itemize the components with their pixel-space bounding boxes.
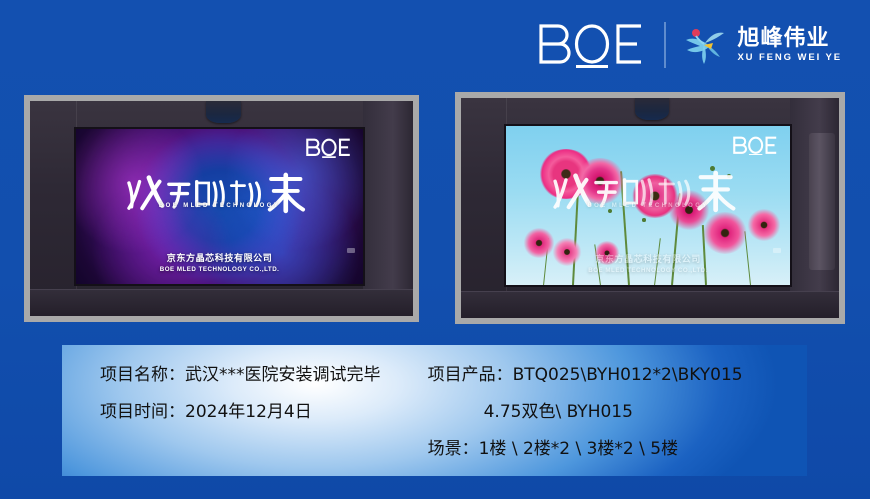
info-column-right: 项目产品：BTQ025\BYH012*2\BKY015 4.75双色\ BYH0… xyxy=(420,367,807,476)
info-panel: 项目名称：武汉***医院安装调试完毕 项目时间：2024年12月4日 项目产品：… xyxy=(62,345,807,476)
screen-corner-badge xyxy=(773,248,781,253)
partner-name-en: XU FENG WEI YE xyxy=(737,53,842,63)
calligraphy-icon xyxy=(93,171,346,218)
led-screen-right: BOE MLED TECHNOLOGY 京东方晶芯科技有限公司 BOE MLED… xyxy=(504,124,791,287)
photo-right: BOE MLED TECHNOLOGY 京东方晶芯科技有限公司 BOE MLED… xyxy=(455,92,845,324)
poster-root: 旭峰伟业 XU FENG WEI YE xyxy=(0,0,870,499)
screen-company-right: 京东方晶芯科技有限公司 BOE MLED TECHNOLOGY CO.,LTD. xyxy=(506,252,789,274)
ceiling-device-icon xyxy=(635,98,669,120)
photo-right-image: BOE MLED TECHNOLOGY 京东方晶芯科技有限公司 BOE MLED… xyxy=(461,98,839,318)
partner-logo: 旭峰伟业 XU FENG WEI YE xyxy=(682,24,842,66)
screen-headline-en-left: BOE MLED TECHNOLOGY xyxy=(93,203,346,209)
project-time-line: 项目时间：2024年12月4日 xyxy=(100,404,420,421)
screen-company-en: BOE MLED TECHNOLOGY CO.,LTD. xyxy=(506,267,789,274)
photo-left-image: BOE MLED TECHNOLOGY 京东方晶芯科技有限公司 BOE MLED… xyxy=(30,101,413,316)
curtain xyxy=(809,133,835,269)
partner-text-block: 旭峰伟业 XU FENG WEI YE xyxy=(737,27,842,63)
partner-name-cn: 旭峰伟业 xyxy=(737,27,842,49)
brand-divider xyxy=(664,22,666,68)
project-product-line2: 4.75双色\ BYH015 xyxy=(428,404,807,421)
boe-wordmark-icon xyxy=(538,22,646,68)
screen-company-cn: 京东方晶芯科技有限公司 xyxy=(506,252,789,265)
led-screen-left: BOE MLED TECHNOLOGY 京东方晶芯科技有限公司 BOE MLED… xyxy=(74,127,365,286)
boe-logo xyxy=(538,22,646,68)
screen-company-en: BOE MLED TECHNOLOGY CO.,LTD. xyxy=(76,266,363,273)
info-grid: 项目名称：武汉***医院安装调试完毕 项目时间：2024年12月4日 项目产品：… xyxy=(62,345,807,476)
scene-line: 场景：1楼 \ 2楼*2 \ 3楼*2 \ 5楼 xyxy=(428,441,807,458)
photo-left: BOE MLED TECHNOLOGY 京东方晶芯科技有限公司 BOE MLED… xyxy=(24,95,419,322)
cosmos-flower xyxy=(702,212,748,254)
screen-boe-logo-icon xyxy=(733,136,778,155)
screen-corner-badge xyxy=(347,248,355,253)
calligraphy-icon xyxy=(523,169,772,217)
screen-company-left: 京东方晶芯科技有限公司 BOE MLED TECHNOLOGY CO.,LTD. xyxy=(76,251,363,273)
project-name-line: 项目名称：武汉***医院安装调试完毕 xyxy=(100,367,420,384)
wall-base-band xyxy=(30,289,413,316)
screen-headline-left: BOE MLED TECHNOLOGY xyxy=(93,171,346,218)
screen-headline-en-right: BOE MLED TECHNOLOGY xyxy=(523,203,772,209)
project-product-line: 项目产品：BTQ025\BYH012*2\BKY015 xyxy=(428,367,807,384)
flower-bud xyxy=(642,218,646,222)
crane-bird-icon xyxy=(682,24,728,66)
screen-headline-right: BOE MLED TECHNOLOGY xyxy=(523,169,772,217)
screen-boe-logo-icon xyxy=(306,138,352,158)
info-column-left: 项目名称：武汉***医院安装调试完毕 项目时间：2024年12月4日 xyxy=(62,367,420,476)
wall-base-band xyxy=(461,291,839,318)
screen-company-cn: 京东方晶芯科技有限公司 xyxy=(76,251,363,264)
header: 旭峰伟业 XU FENG WEI YE xyxy=(0,0,870,90)
ceiling-device-icon xyxy=(206,101,240,123)
room-wall-right xyxy=(363,101,413,316)
brand-bar: 旭峰伟业 XU FENG WEI YE xyxy=(538,18,842,72)
